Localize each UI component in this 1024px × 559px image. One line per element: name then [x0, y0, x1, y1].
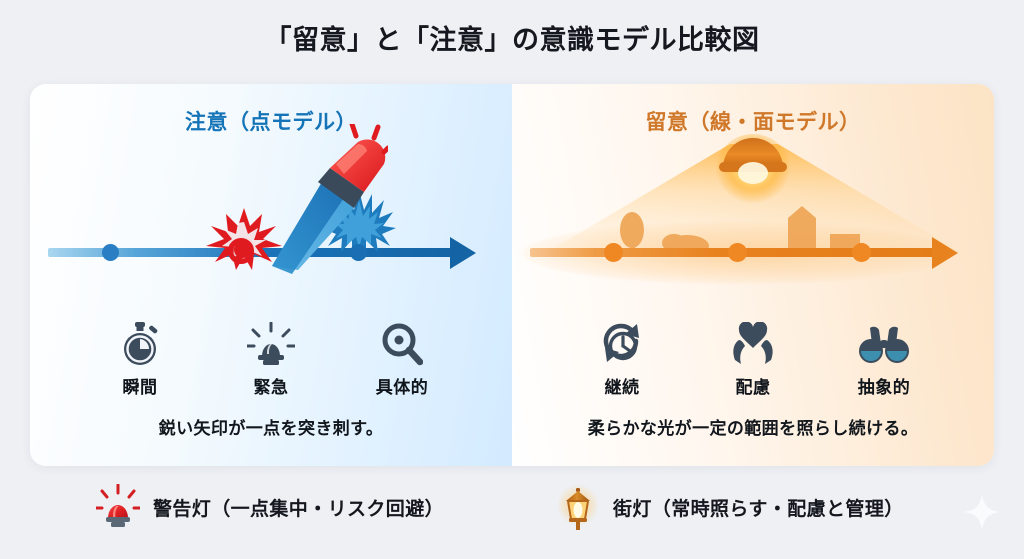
attention-icon-cell-1: 瞬間 — [80, 320, 200, 398]
mindfulness-icon-cell-2: 配慮 — [693, 320, 813, 398]
binoculars-icon — [824, 320, 944, 366]
attention-icon-cell-3: 具体的 — [342, 320, 462, 398]
panel-attention-scene — [30, 136, 512, 316]
legend-label-warning-beacon: 警告灯（一点集中・リスク回避） — [153, 494, 444, 521]
mindfulness-icon-label-3: 抽象的 — [824, 373, 944, 398]
mindfulness-axis-dot-2 — [728, 243, 747, 262]
heart-in-hands-icon — [693, 320, 813, 366]
attention-icon-row: 瞬間 — [30, 320, 512, 400]
diagram-root: 「留意」と「注意」の意識モデル比較図 注意（点モデル） — [0, 0, 1024, 559]
attention-spotlight-spike-icon — [258, 124, 388, 274]
mindfulness-axis-dot-1 — [604, 243, 623, 262]
comparison-card: 注意（点モデル） — [30, 84, 994, 466]
attention-axis-dot-1 — [102, 244, 119, 261]
mindfulness-caption: 柔らかな光が一定の範囲を照らし続ける。 — [512, 414, 994, 439]
mindfulness-icon-label-1: 継続 — [562, 373, 682, 398]
panel-mindfulness: 留意（線・面モデル） — [512, 84, 994, 466]
attention-icon-label-2: 緊急 — [211, 373, 331, 398]
attention-icon-label-3: 具体的 — [342, 373, 462, 398]
panel-mindfulness-scene — [512, 136, 994, 316]
page-title: 「留意」と「注意」の意識モデル比較図 — [0, 18, 1024, 57]
mindfulness-axis-dot-3 — [852, 243, 871, 262]
stopwatch-icon — [80, 320, 200, 366]
attention-icon-cell-2: 緊急 — [211, 320, 331, 398]
legend: 警告灯（一点集中・リスク回避） — [0, 478, 1024, 540]
mindfulness-icon-cell-1: 継続 — [562, 320, 682, 398]
attention-impact-target — [226, 236, 260, 270]
panel-attention: 注意（点モデル） — [30, 84, 512, 466]
legend-item-street-lamp: 街灯（常時照らす・配慮と管理） — [556, 484, 904, 530]
sparkle-icon — [962, 492, 1002, 532]
mindfulness-icon-label-2: 配慮 — [693, 373, 813, 398]
street-lamp-icon — [556, 484, 600, 530]
attention-axis-arrowhead — [450, 237, 476, 269]
mindfulness-icon-cell-3: 抽象的 — [824, 320, 944, 398]
magnifier-icon — [342, 320, 462, 366]
clock-cycle-icon — [562, 320, 682, 366]
legend-item-warning-beacon: 警告灯（一点集中・リスク回避） — [96, 484, 444, 530]
street-lamp-head-icon — [697, 124, 809, 228]
siren-beacon-icon — [211, 320, 331, 366]
red-warning-beacon-icon — [96, 484, 140, 530]
mindfulness-axis-arrowhead — [932, 237, 958, 269]
target-core — [234, 241, 251, 258]
attention-icon-label-1: 瞬間 — [80, 373, 200, 398]
mindfulness-icon-row: 継続 配慮 — [512, 320, 994, 400]
legend-label-street-lamp: 街灯（常時照らす・配慮と管理） — [613, 494, 904, 521]
attention-caption: 鋭い矢印が一点を突き刺す。 — [30, 414, 512, 439]
